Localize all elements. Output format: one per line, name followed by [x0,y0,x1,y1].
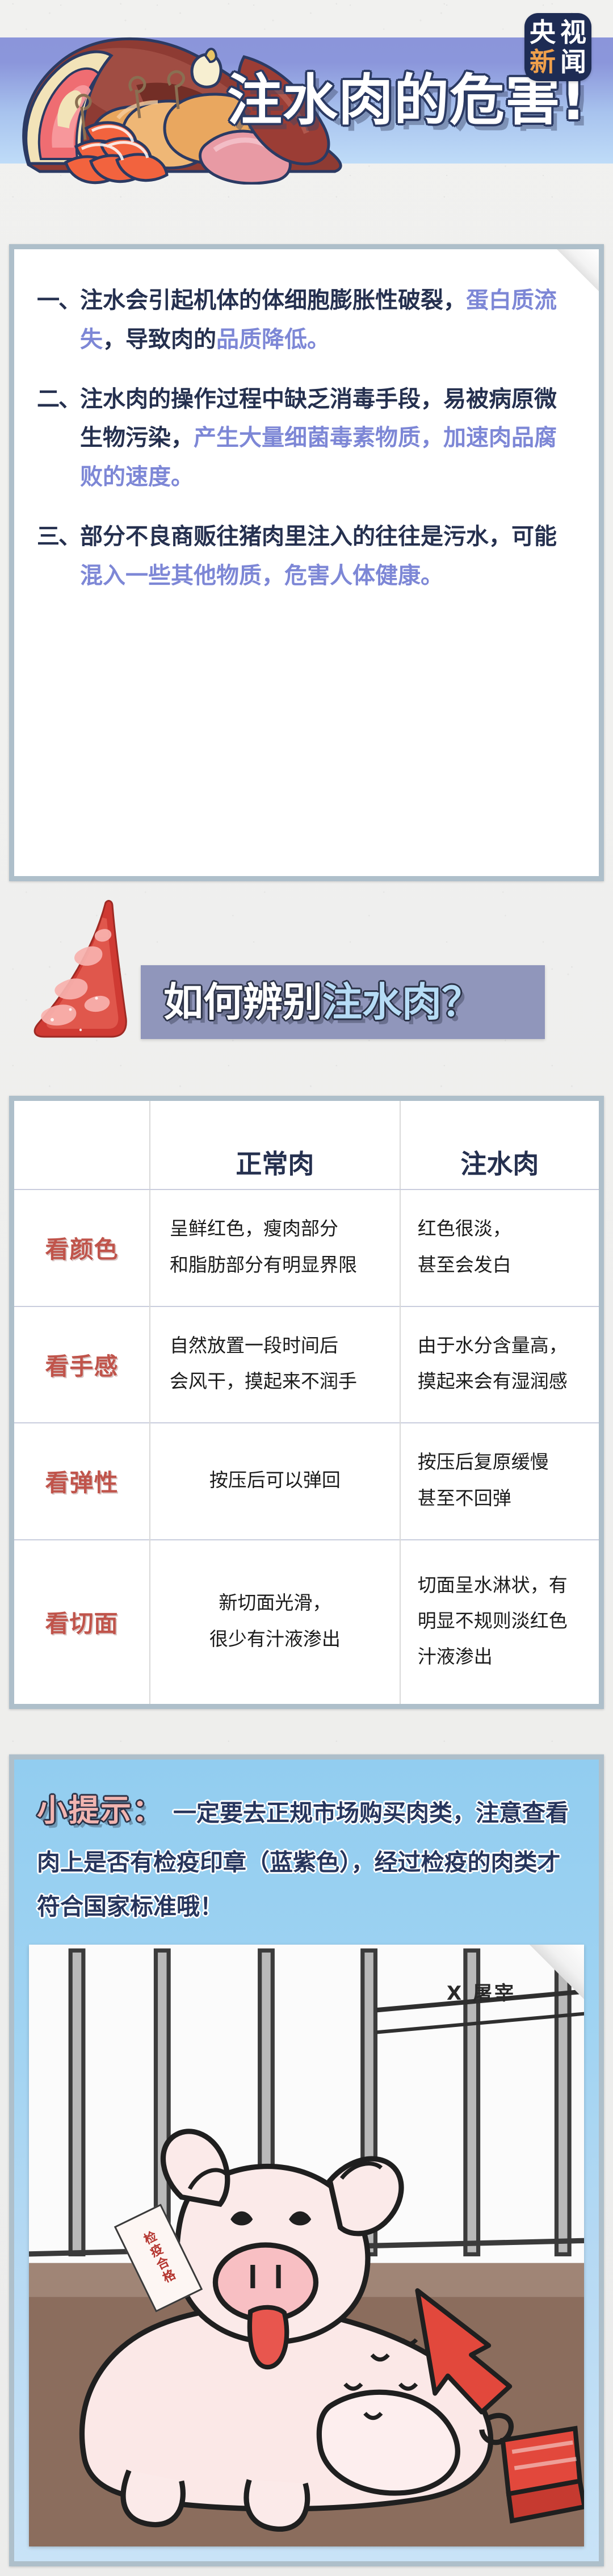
red-meat-icon [11,898,159,1039]
table-row: 看弹性按压后可以弹回按压后复原缓慢甚至不回弹 [14,1423,599,1540]
page-title: 注水肉的危害! [227,73,586,128]
danger-item-number: 三、 [37,517,80,596]
logo-char-2: 视 [558,18,589,47]
identify-banner: 如何辨别注水肉？ [0,965,613,1039]
danger-item-text: 部分不良商贩往猪肉里注入的往往是污水，可能混入一些其他物质，危害人体健康。 [80,517,576,596]
cell-water-meat: 红色很淡，甚至会发白 [400,1189,599,1306]
cell-water-meat: 切面呈水淋状，有明显不规则淡红色汁液渗出 [400,1540,599,1704]
cartoon-illustration: X 屠宰 检疫合格 [29,1945,584,2546]
row-label: 看切面 [14,1540,150,1704]
slaughterhouse-sign-text: X 屠宰 [447,1978,516,2005]
identify-title-highlight: 注水肉？ [322,979,481,1025]
table-row: 看切面新切面光滑，很少有汁液渗出切面呈水淋状，有明显不规则淡红色汁液渗出 [14,1540,599,1704]
row-label: 看手感 [14,1306,150,1423]
logo-char-1: 央 [527,18,558,47]
danger-item-number: 二、 [37,380,80,497]
tips-text: 小提示：一定要去正规市场购买肉类，注意查看肉上是否有检疫印章（蓝紫色），经过检疫… [29,1781,584,1929]
danger-text-highlight: 品质降低。 [216,326,330,353]
danger-text-plain: 部分不良商贩往猪肉里注入的往往是污水，可能 [80,523,557,550]
cell-normal-meat: 按压后可以弹回 [150,1423,400,1540]
danger-item: 二、注水肉的操作过程中缺乏消毒手段，易被病原微生物污染，产生大量细菌毒素物质，加… [37,380,576,497]
cell-water-meat: 按压后复原缓慢甚至不回弹 [400,1423,599,1540]
danger-item: 三、部分不良商贩往猪肉里注入的往往是污水，可能混入一些其他物质，危害人体健康。 [37,517,576,596]
pig-scene-graphic [29,1945,584,2546]
infographic-page: 注水肉的危害! 央 视 新 闻 一、注水会引起机体的体细胞膨胀性破裂，蛋白质流失… [0,0,613,2576]
table-row: 看颜色呈鲜红色，瘦肉部分和脂肪部分有明显界限红色很淡，甚至会发白 [14,1189,599,1306]
row-label: 看颜色 [14,1189,150,1306]
table-header-row: 正常肉 注水肉 [14,1101,599,1189]
tips-card: 小提示：一定要去正规市场购买肉类，注意查看肉上是否有检疫印章（蓝紫色），经过检疫… [9,1754,604,2566]
dangers-list: 一、注水会引起机体的体细胞膨胀性破裂，蛋白质流失，导致肉的品质降低。二、注水肉的… [14,249,599,639]
cell-normal-meat: 自然放置一段时间后会风干，摸起来不润手 [150,1306,400,1423]
table-row: 看手感自然放置一段时间后会风干，摸起来不润手由于水分含量高，摸起来会有湿润感 [14,1306,599,1423]
cctv-news-logo: 央 视 新 闻 [524,13,591,81]
hero-header: 注水肉的危害! 央 视 新 闻 [0,0,613,185]
quarantine-tag-text: 检疫合格 [138,2229,179,2288]
cell-normal-meat: 呈鲜红色，瘦肉部分和脂肪部分有明显界限 [150,1189,400,1306]
cell-water-meat: 由于水分含量高，摸起来会有湿润感 [400,1306,599,1423]
danger-item: 一、注水会引起机体的体细胞膨胀性破裂，蛋白质流失，导致肉的品质降低。 [37,281,576,359]
dangers-card: 一、注水会引起机体的体细胞膨胀性破裂，蛋白质流失，导致肉的品质降低。二、注水肉的… [9,244,604,881]
danger-item-text: 注水肉的操作过程中缺乏消毒手段，易被病原微生物污染，产生大量细菌毒素物质，加速肉… [80,380,576,497]
logo-char-4: 闻 [558,47,589,77]
identify-title-plain: 如何辨别 [163,979,322,1025]
col-header-criterion [14,1101,150,1189]
col-header-water-meat: 注水肉 [400,1101,599,1189]
danger-text-highlight: 混入一些其他物质，危害人体健康。 [80,563,443,589]
cell-normal-meat: 新切面光滑，很少有汁液渗出 [150,1540,400,1704]
danger-item-text: 注水会引起机体的体细胞膨胀性破裂，蛋白质流失，导致肉的品质降低。 [80,281,576,359]
comparison-table: 正常肉 注水肉 看颜色呈鲜红色，瘦肉部分和脂肪部分有明显界限红色很淡，甚至会发白… [14,1101,599,1704]
col-header-normal-meat: 正常肉 [150,1101,400,1189]
danger-text-plain: ，导致肉的 [103,326,216,353]
logo-char-3: 新 [527,47,558,77]
comparison-card: 正常肉 注水肉 看颜色呈鲜红色，瘦肉部分和脂肪部分有明显界限红色很淡，甚至会发白… [9,1096,604,1709]
tips-panel: 小提示：一定要去正规市场购买肉类，注意查看肉上是否有检疫印章（蓝紫色），经过检疫… [14,1760,599,2561]
danger-item-number: 一、 [37,281,80,359]
danger-text-plain: 注水会引起机体的体细胞膨胀性破裂， [80,287,466,313]
identify-banner-title: 如何辨别注水肉？ [163,975,481,1029]
tips-label: 小提示： [37,1792,164,1828]
row-label: 看弹性 [14,1423,150,1540]
